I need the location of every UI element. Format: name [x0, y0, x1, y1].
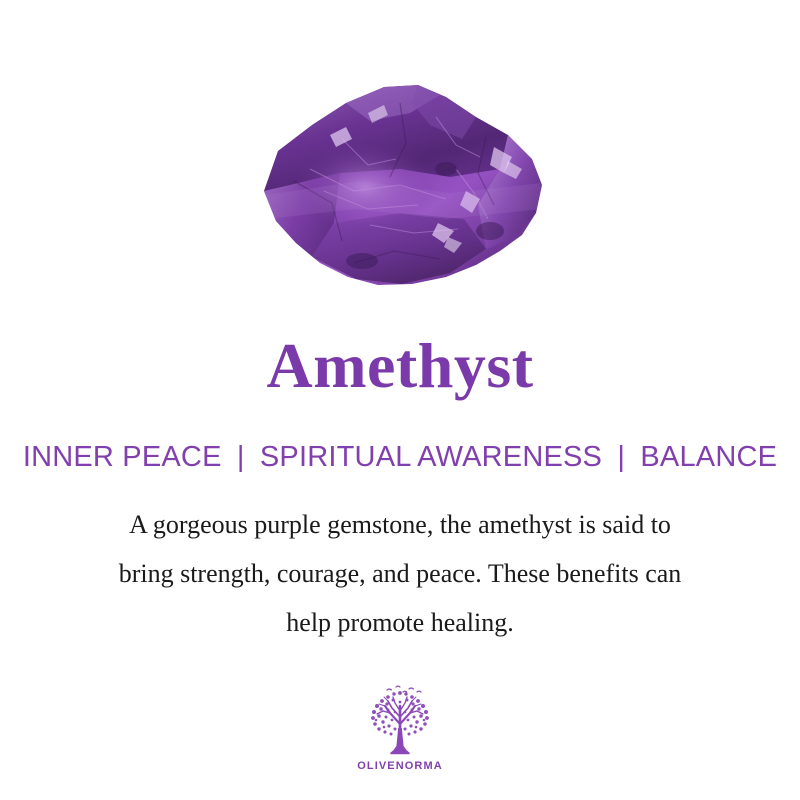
description-line: A gorgeous purple gemstone, the amethyst…: [50, 500, 750, 549]
description-line: help promote healing.: [50, 598, 750, 647]
amethyst-crystal-icon: [250, 73, 550, 291]
keyword-inner-peace: INNER PEACE: [23, 441, 222, 473]
keyword-balance: BALANCE: [640, 441, 777, 473]
page-title: Amethyst: [0, 332, 800, 399]
amethyst-info-card: Amethyst INNER PEACE | SPIRITUAL AWARENE…: [0, 0, 800, 800]
keyword-list: INNER PEACE | SPIRITUAL AWARENESS | BALA…: [0, 440, 800, 475]
brand-logo: OLIVENORMA: [0, 684, 800, 772]
keyword-separator: |: [230, 441, 252, 473]
tree-icon: [357, 684, 443, 758]
brand-name: OLIVENORMA: [357, 760, 443, 772]
keyword-separator: |: [610, 441, 632, 473]
gemstone-hero: [0, 62, 800, 302]
gemstone-image: [250, 73, 550, 291]
keyword-spiritual-awareness: SPIRITUAL AWARENESS: [260, 441, 602, 473]
description-text: A gorgeous purple gemstone, the amethyst…: [50, 500, 750, 647]
description-line: bring strength, courage, and peace. Thes…: [50, 549, 750, 598]
